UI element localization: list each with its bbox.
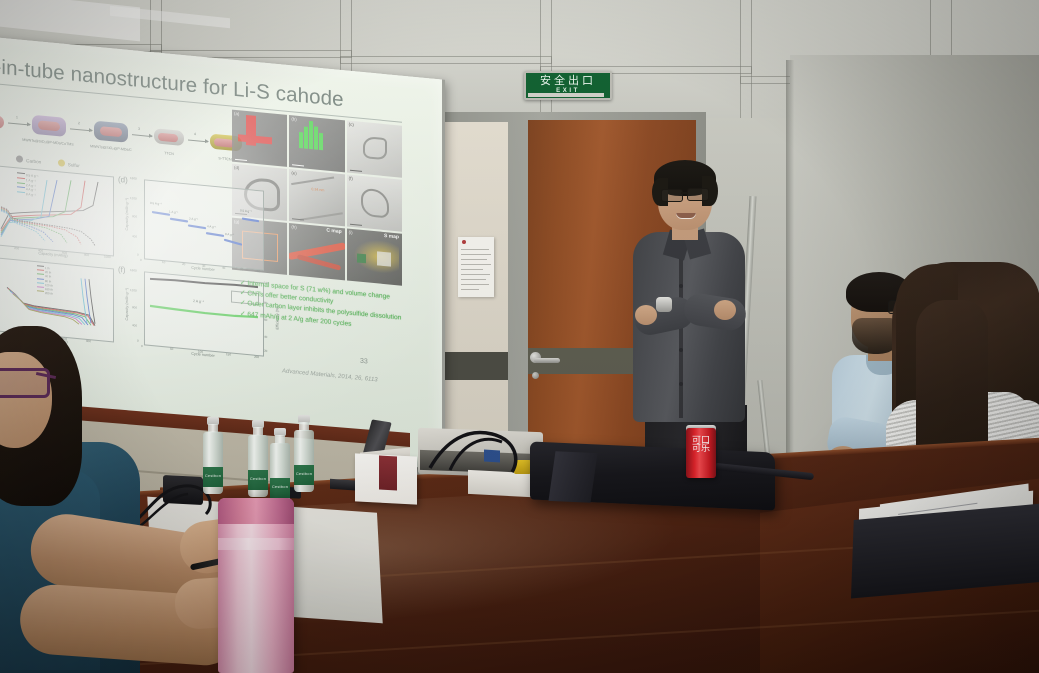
micrograph-label-b: (b) (291, 116, 296, 122)
plot-c-legend: 0.5 A g⁻¹ 1 A g⁻¹ 2 A g⁻¹ 4 A g⁻¹ 8 A g⁻… (17, 172, 38, 198)
conference-room-photo: 安全出口 EXIT ube-in-tube nanostructure for … (0, 0, 1039, 673)
coke-can-label: 可口可乐 (690, 436, 712, 452)
presenter-glasses-right-lens (687, 188, 709, 201)
micrograph-h: (h) C map (289, 223, 344, 280)
micrograph-map-s: S map (384, 233, 399, 240)
scheme-step-2: 2 (78, 121, 80, 125)
micrograph-i: (i) S map (347, 228, 402, 285)
presenter-glasses-left-lens (661, 189, 683, 202)
pink-thermos-cap[interactable] (218, 498, 294, 524)
presenter-glasses-bridge (681, 192, 688, 194)
presenter-shirt-placket (679, 250, 683, 418)
plot-label-d: (d) (118, 175, 128, 185)
scheme-label-3: TTCN (148, 150, 190, 158)
scheme-label-1: MWNTs@SiO₂@P-MDs/CoTMS (18, 137, 78, 147)
notice-seal-icon (462, 240, 466, 244)
pink-thermos-ring (218, 538, 294, 550)
micrograph-label-i: (i) (349, 230, 353, 235)
plot-d-rate-4: 8 A g⁻¹ (225, 232, 234, 237)
plot-d: 0.5 A g⁻¹ 1 A g⁻¹ 2 A g⁻¹ 4 A g⁻¹ 8 A g⁻… (144, 179, 264, 270)
pink-thermos[interactable] (218, 498, 294, 673)
micrograph-b: (b) (289, 115, 344, 172)
slide-bullets: ✓ Internal space for S (71 w%) and volum… (240, 278, 440, 338)
scheme-label-2: MWNTs@SiO₂@P-MDs/C (82, 143, 140, 153)
plot-d-rate-2: 2 A g⁻¹ (189, 217, 198, 222)
presenter-hand-left (635, 305, 657, 325)
laptop-bag-fold (548, 451, 597, 503)
presenter-hand-right (714, 300, 736, 320)
plot-f-ylabel: Capacity (mAh g⁻¹) (124, 288, 129, 321)
legend-label-sulfur: Sulfur (68, 162, 80, 168)
door-handle[interactable] (534, 358, 560, 363)
micrograph-c: (c) (347, 120, 402, 177)
plot-d-rate-1: 1 A g⁻¹ (169, 210, 178, 215)
scheme-step-3: 3 (138, 127, 140, 131)
micrograph-label-a: (a) (234, 111, 239, 117)
micrograph-f: (f) (347, 174, 402, 231)
tissue-box-band (379, 456, 397, 491)
slide-page-number: 33 (360, 358, 368, 366)
legend-swatch-carbon (16, 155, 23, 163)
presenter-mouth (676, 213, 696, 219)
presenter-wristwatch (656, 297, 672, 312)
plot-d-ylabel: Capacity (mAh g⁻¹) (124, 198, 129, 231)
micrograph-label-f: (f) (349, 176, 353, 181)
micrograph-a: (a) (232, 110, 287, 167)
door-lock-icon[interactable] (532, 372, 539, 379)
door-side-band (438, 352, 508, 380)
exit-sign-base (528, 93, 604, 97)
micrograph-label-c: (c) (349, 122, 354, 127)
clipboard[interactable] (851, 503, 1039, 598)
wall-notice (458, 237, 494, 297)
exit-sign-chinese: 安全出口 (540, 76, 596, 87)
micrograph-label-d: (d) (234, 165, 239, 171)
legend-swatch-sulfur (58, 159, 65, 167)
plot-e-legend-6: 200 th (45, 291, 53, 296)
plot-e-legend: 1 th 20 th 40 th 80 th 120 th 160 th 200… (37, 265, 53, 296)
micrograph-label-e: (e) (291, 170, 296, 176)
micrograph-e: 0.34 nm (e) (289, 169, 344, 226)
plot-c-legend-4: 8 A g⁻¹ (26, 192, 36, 197)
legend-label-carbon: Carbon (26, 158, 41, 164)
plot-c: 0.5 A g⁻¹ 1 A g⁻¹ 2 A g⁻¹ 4 A g⁻¹ 8 A g⁻… (0, 165, 114, 256)
plot-label-f: (f) (118, 265, 126, 275)
scheme-step-4: 4 (194, 132, 196, 136)
slide-citation: Advanced Materials, 2014, 26, 6113 (282, 368, 378, 383)
scheme-label-0: MWNTs (0, 133, 14, 142)
micrograph-label-h: (h) (291, 224, 296, 230)
scheme-step-1: 1 (16, 115, 18, 119)
micrograph-map-c: C map (326, 228, 341, 235)
plot-d-rate-3: 4 A g⁻¹ (207, 224, 216, 229)
